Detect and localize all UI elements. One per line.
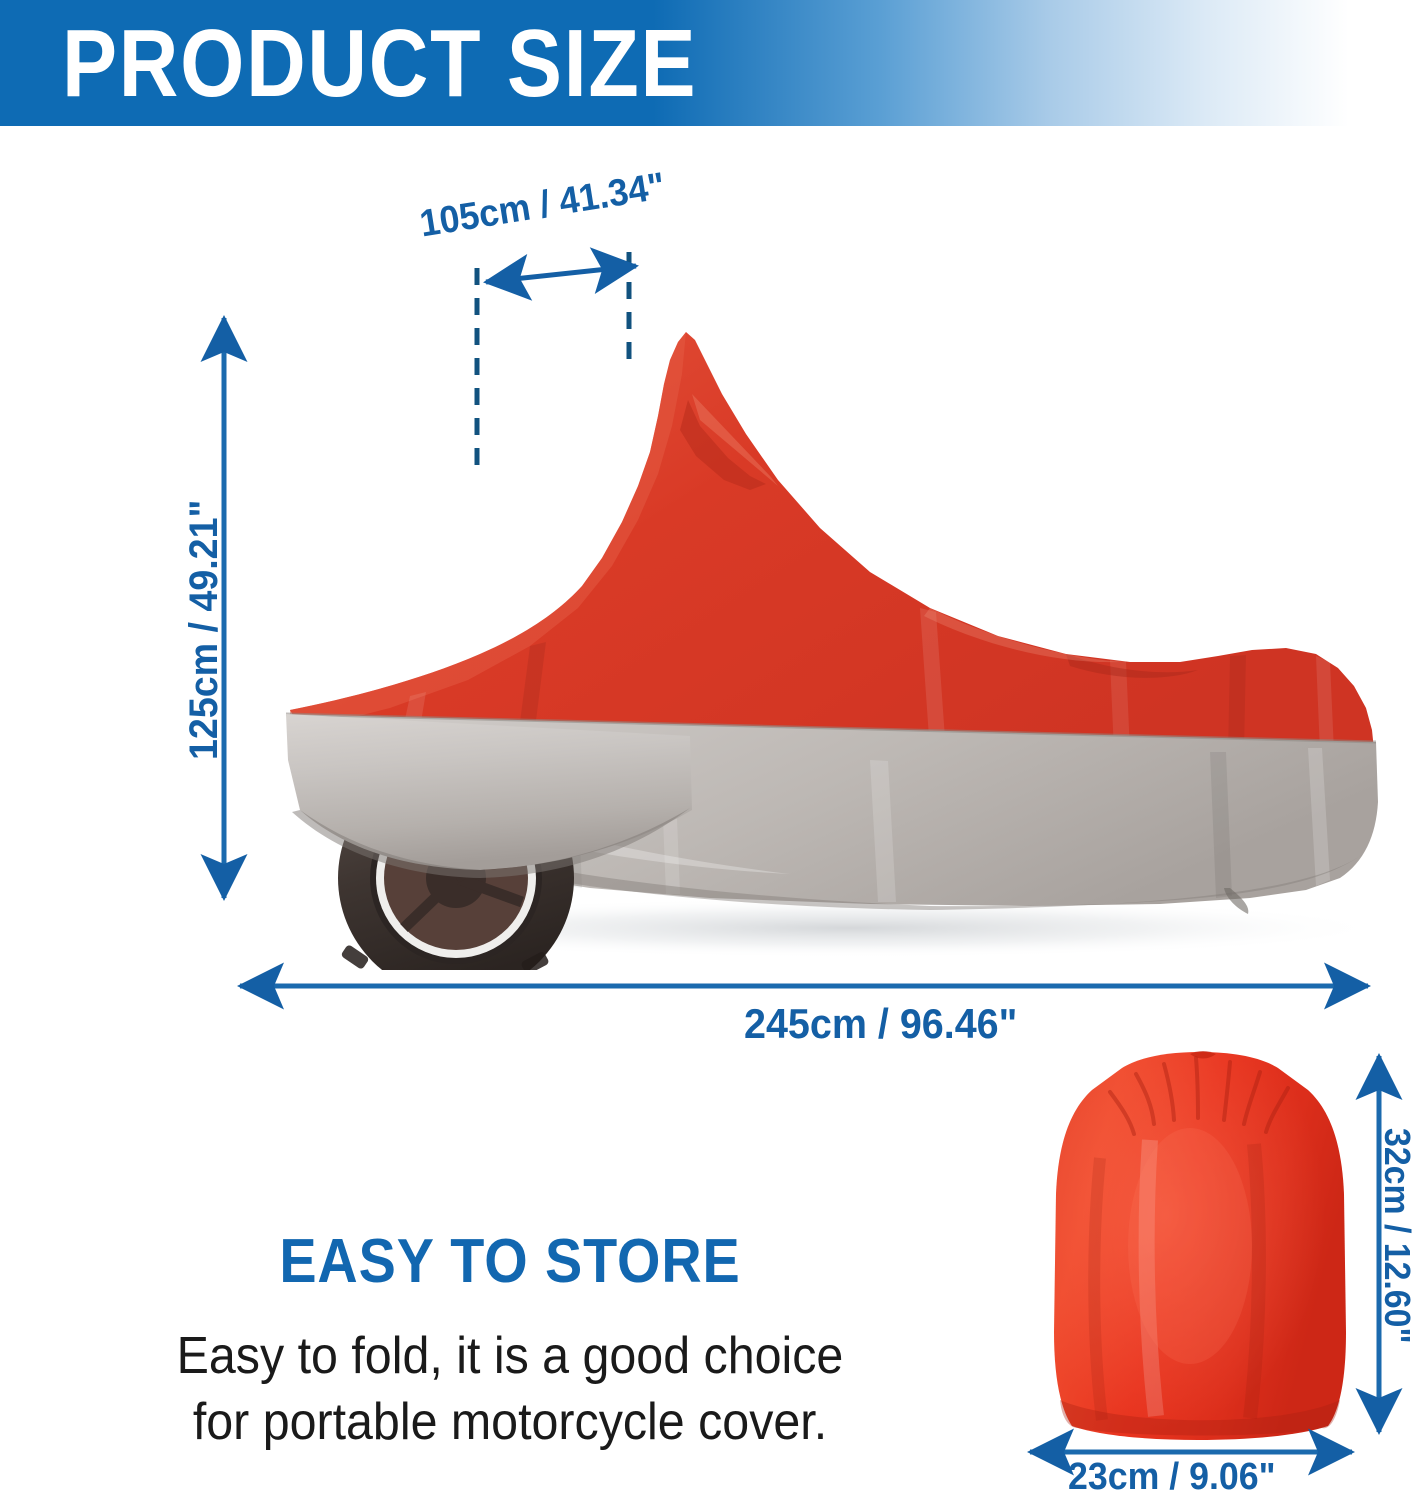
windshield-width-label: 105cm / 41.34" [417, 165, 668, 246]
motorcycle-cover-illustration [230, 290, 1390, 970]
windshield-width-arrow [486, 266, 636, 282]
page-title: PRODUCT SIZE [62, 8, 697, 120]
bag-width-label: 23cm / 9.06" [1068, 1456, 1276, 1499]
storage-bag-illustration [1040, 1048, 1360, 1440]
bag-height-label: 32cm / 12.60" [1376, 1128, 1418, 1343]
cover-height-label: 125cm / 49.21" [182, 500, 227, 760]
easy-to-store-block: EASY TO STORE Easy to fold, it is a good… [60, 1225, 960, 1455]
easy-to-store-line-1: Easy to fold, it is a good choice [92, 1323, 929, 1389]
cover-length-label: 245cm / 96.46" [744, 1000, 1017, 1048]
header-banner: PRODUCT SIZE [0, 0, 1420, 126]
easy-to-store-heading: EASY TO STORE [105, 1225, 915, 1299]
easy-to-store-line-2: for portable motorcycle cover. [92, 1389, 929, 1455]
